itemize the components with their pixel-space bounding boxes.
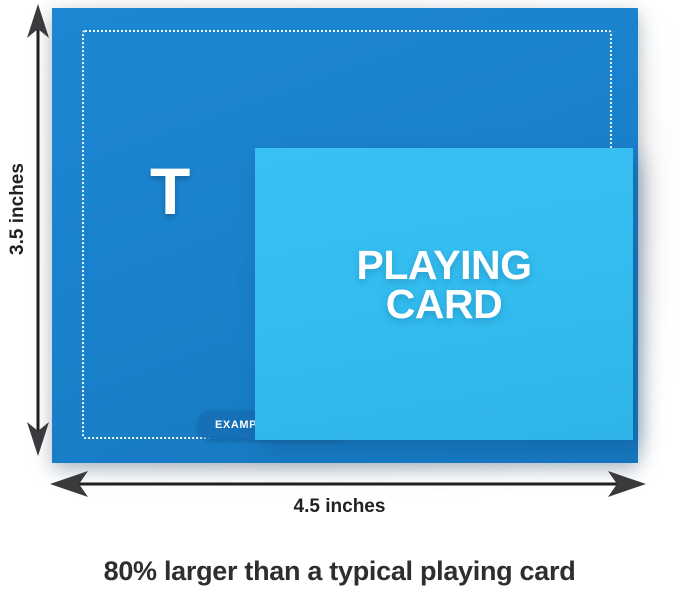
oversized-card-title: T: [150, 158, 189, 224]
height-dimension-label: 3.5 inches: [7, 139, 29, 279]
standard-playing-card: PLAYING CARD: [255, 148, 633, 440]
playing-card-label-line2: CARD: [255, 285, 633, 324]
width-dimension-label: 4.5 inches: [0, 496, 679, 518]
size-comparison-figure: T EXAMPLE PLAYING CARD 3.5 inches 4.5 in…: [0, 0, 679, 608]
playing-card-label: PLAYING CARD: [255, 246, 633, 324]
comparison-caption: 80% larger than a typical playing card: [0, 556, 679, 587]
playing-card-label-line1: PLAYING: [255, 246, 633, 285]
